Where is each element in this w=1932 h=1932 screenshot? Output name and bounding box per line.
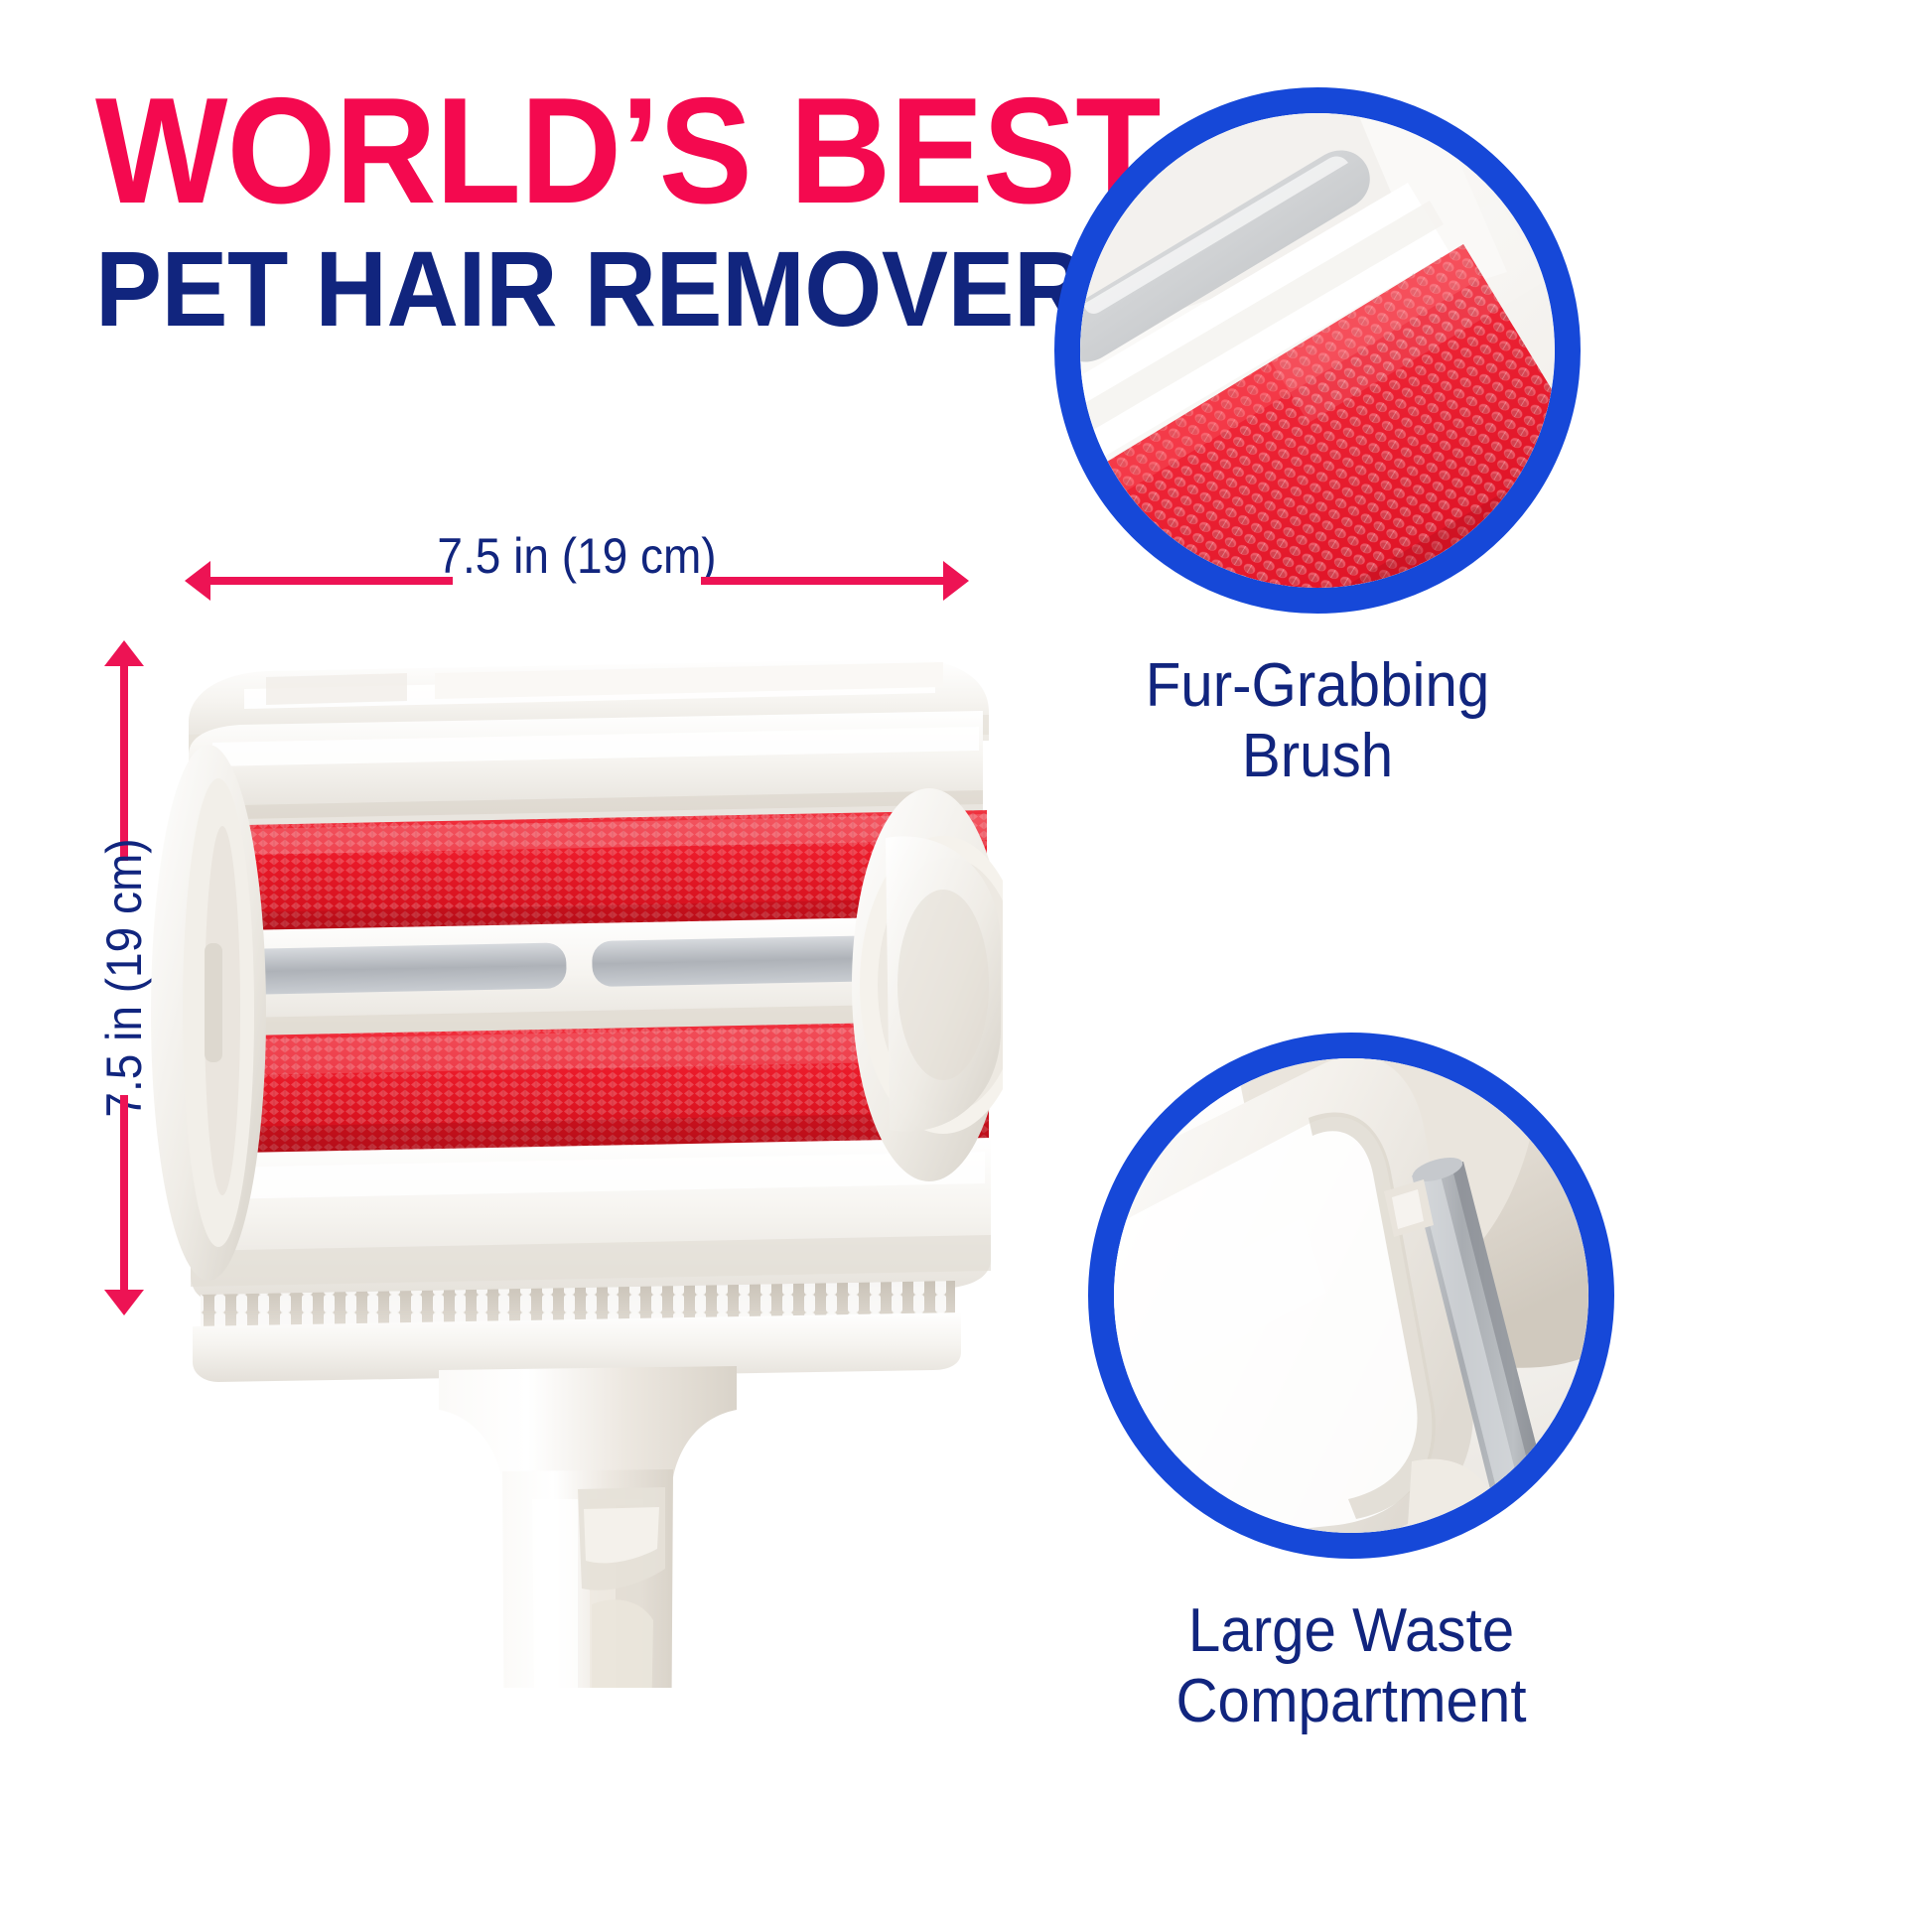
callout-caption-waste: Large Waste Compartment: [1104, 1596, 1598, 1736]
product-image-pet-hair-remover: [149, 616, 1003, 1688]
callout-large-waste-compartment: Large Waste Compartment: [1088, 1033, 1614, 1736]
arrow-head-down-icon: [104, 1290, 144, 1315]
roller-lower-band: [191, 1138, 991, 1303]
height-dimension-label: 7.5 in (19 cm): [95, 838, 153, 1117]
scraper-blade-left: [238, 942, 567, 995]
callout-caption-waste-line-1: Large Waste: [1104, 1596, 1598, 1667]
roller-left-endcap: [151, 745, 266, 1281]
callout-image-waste-compartment: [1088, 1033, 1614, 1559]
arrow-head-right-icon: [943, 561, 969, 601]
callout-caption-brush: Fur-Grabbing Brush: [1070, 651, 1565, 791]
width-dimension: 7.5 in (19 cm): [185, 533, 969, 607]
headline-line-2: PET HAIR REMOVER: [95, 235, 1074, 343]
product-handle: [439, 1366, 737, 1688]
callout-fur-grabbing-brush: Fur-Grabbing Brush: [1054, 87, 1581, 791]
roller-upper-band: [189, 711, 983, 830]
dimension-line-right: [701, 577, 947, 585]
dimension-line-top: [120, 662, 128, 861]
callout-caption-brush-line-2: Brush: [1070, 722, 1565, 792]
callout-caption-brush-line-1: Fur-Grabbing: [1070, 651, 1565, 722]
page-title: WORLD’S BEST PET HAIR REMOVER: [95, 81, 1148, 343]
infographic-canvas: WORLD’S BEST PET HAIR REMOVER 7.5 in (19…: [0, 0, 1932, 1932]
callout-caption-waste-line-2: Compartment: [1104, 1667, 1598, 1737]
roller-right-endcap: [852, 788, 1003, 1181]
dimension-line-bottom: [120, 1095, 128, 1294]
headline-line-1: WORLD’S BEST: [95, 81, 1074, 221]
comb-teeth-strip: [193, 1281, 961, 1382]
callout-image-brush: [1054, 87, 1581, 614]
